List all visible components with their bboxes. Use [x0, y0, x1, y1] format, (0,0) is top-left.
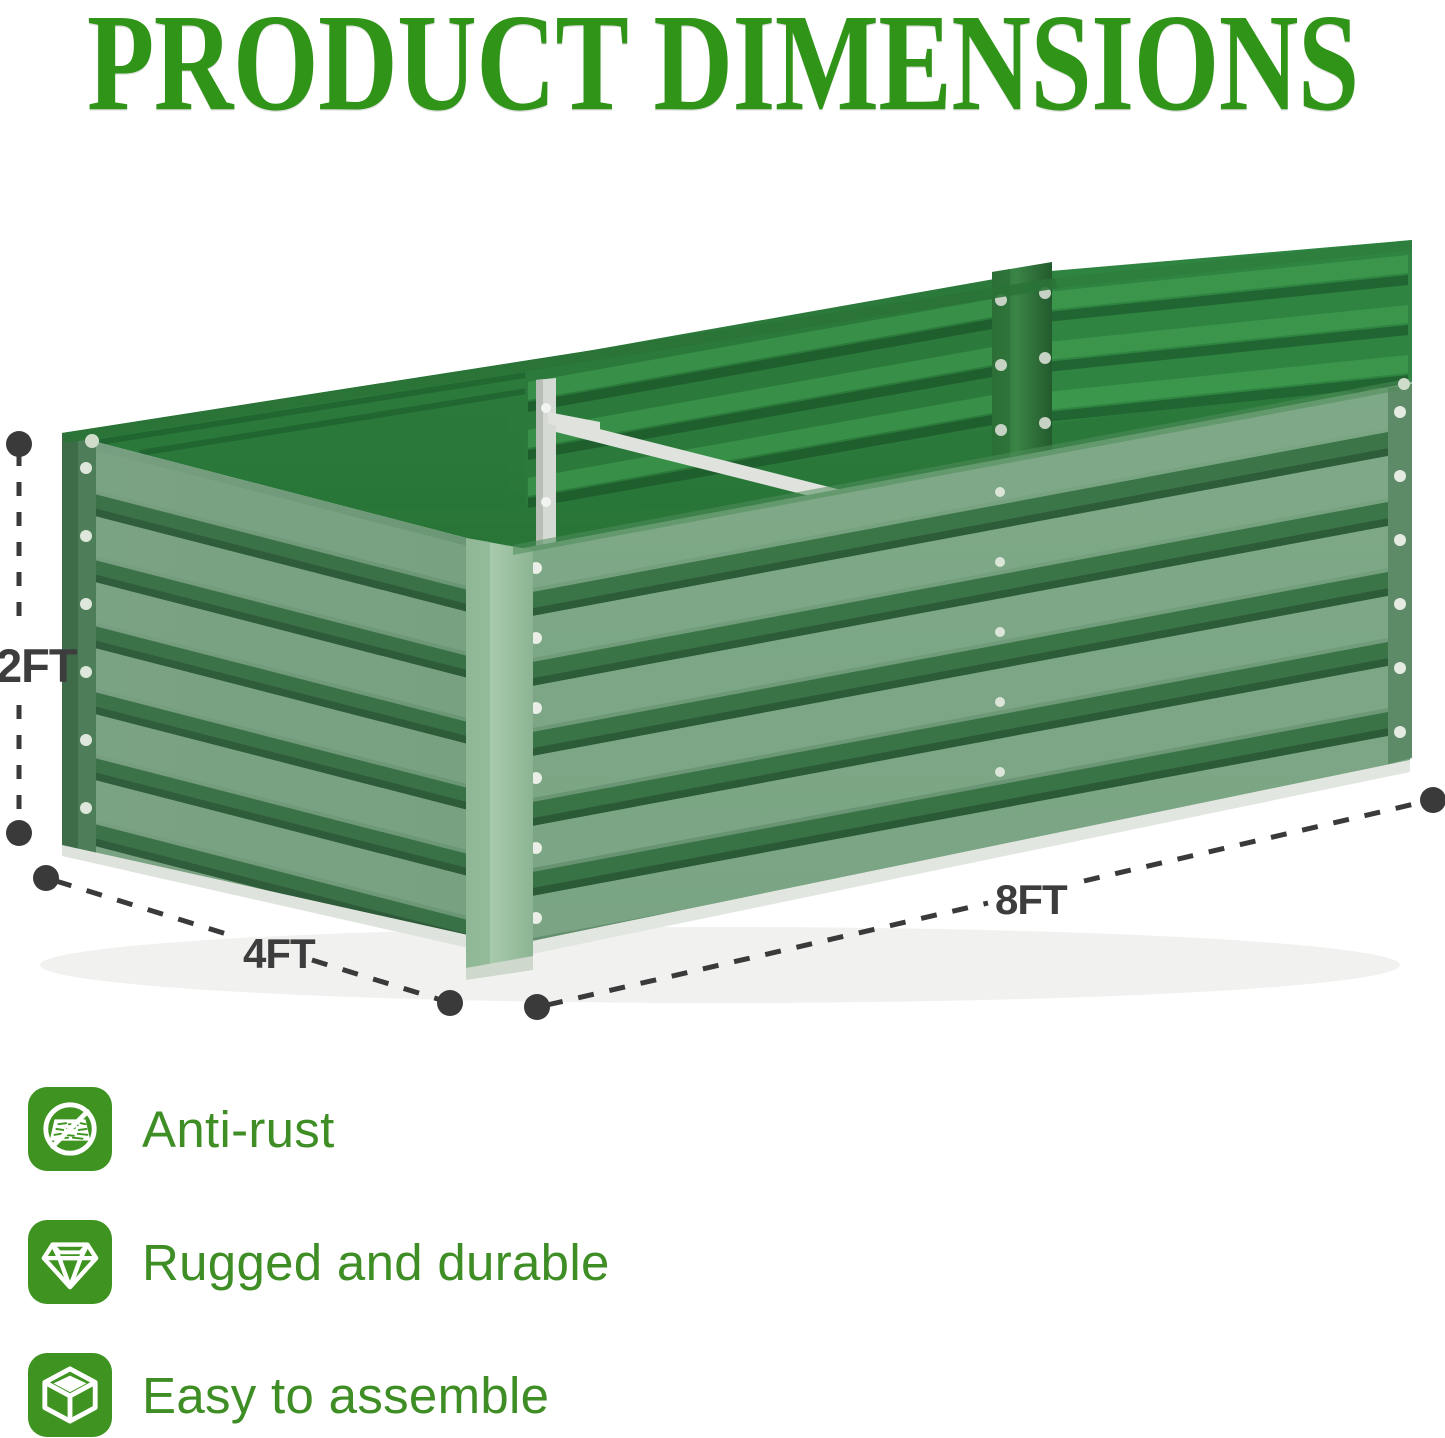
page-title: PRODUCT DIMENSIONS [87, 0, 1359, 133]
feature-item-rugged: Rugged and durable [28, 1220, 928, 1304]
raised-garden-bed-graphic [0, 150, 1445, 1060]
assemble-cube-icon [28, 1353, 112, 1437]
anti-rust-icon [28, 1087, 112, 1171]
diamond-icon [28, 1220, 112, 1304]
infographic-root: PRODUCT DIMENSIONS [0, 0, 1445, 1438]
feature-label-assemble: Easy to assemble [142, 1370, 549, 1421]
ground-shadow [40, 927, 1400, 1003]
feature-item-anti-rust: Anti-rust [28, 1087, 928, 1171]
page-title-bar: PRODUCT DIMENSIONS [0, 0, 1445, 90]
feature-label-anti-rust: Anti-rust [142, 1104, 335, 1155]
feature-list: Anti-rust Rugged and durable [28, 1087, 928, 1437]
product-illustration [0, 150, 1445, 1060]
feature-label-rugged: Rugged and durable [142, 1237, 610, 1288]
feature-item-assemble: Easy to assemble [28, 1353, 928, 1437]
near-corner-post [466, 538, 533, 980]
